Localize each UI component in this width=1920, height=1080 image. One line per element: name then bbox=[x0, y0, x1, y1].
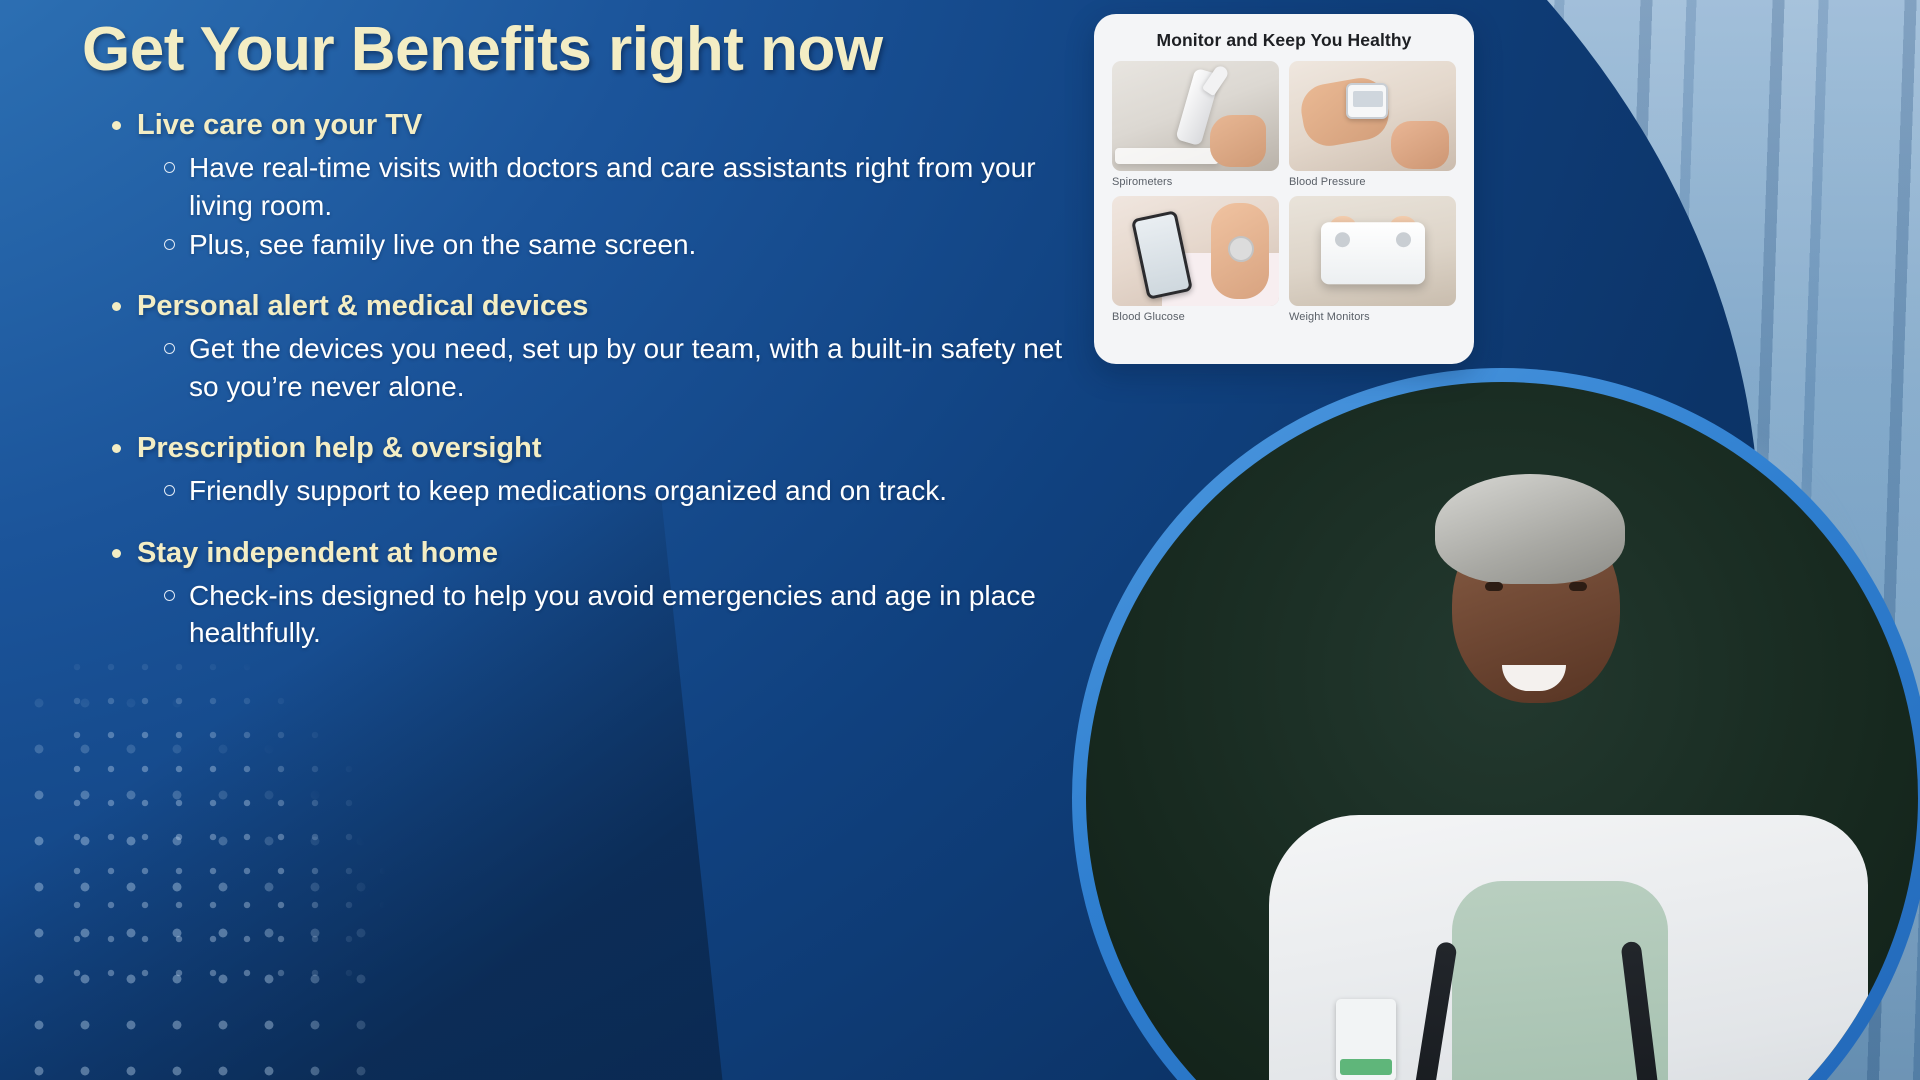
device-tile[interactable]: Blood Pressure bbox=[1289, 61, 1456, 188]
bullet-dot-icon bbox=[112, 302, 121, 311]
benefit-subitem: Plus, see family live on the same screen… bbox=[164, 226, 1092, 263]
page-title: Get Your Benefits right now bbox=[82, 14, 883, 85]
device-tile[interactable]: Spirometers bbox=[1112, 61, 1279, 188]
benefit-subitem-text: Get the devices you need, set up by our … bbox=[189, 330, 1089, 404]
doctor-id-badge bbox=[1336, 999, 1396, 1080]
bullet-dot-icon bbox=[112, 444, 121, 453]
benefit-heading: Personal alert & medical devices bbox=[112, 289, 1092, 324]
benefit-group: Prescription help & oversight Friendly s… bbox=[112, 431, 1092, 510]
benefit-heading: Stay independent at home bbox=[112, 536, 1092, 571]
weight-scale-icon bbox=[1289, 196, 1456, 306]
device-tile-grid: Spirometers Blood Pressure Blood Glucose bbox=[1112, 61, 1456, 323]
blood-glucose-icon bbox=[1112, 196, 1279, 306]
blood-pressure-icon bbox=[1289, 61, 1456, 171]
device-tile-label: Blood Glucose bbox=[1112, 311, 1279, 323]
device-tile[interactable]: Blood Glucose bbox=[1112, 196, 1279, 323]
device-tile[interactable]: Weight Monitors bbox=[1289, 196, 1456, 323]
device-card: Monitor and Keep You Healthy Spirometers… bbox=[1094, 14, 1474, 364]
doctor-hair bbox=[1435, 474, 1625, 584]
benefit-heading: Prescription help & oversight bbox=[112, 431, 1092, 466]
benefit-heading-text: Live care on your TV bbox=[137, 108, 422, 143]
benefit-heading-text: Stay independent at home bbox=[137, 536, 498, 571]
benefit-heading: Live care on your TV bbox=[112, 108, 1092, 143]
bullet-dot-icon bbox=[112, 121, 121, 130]
spirometer-icon bbox=[1112, 61, 1279, 171]
device-card-title: Monitor and Keep You Healthy bbox=[1112, 30, 1456, 51]
device-tile-label: Blood Pressure bbox=[1289, 176, 1456, 188]
benefits-list: Live care on your TV Have real-time visi… bbox=[112, 108, 1092, 651]
benefit-subitem: Friendly support to keep medications org… bbox=[164, 472, 1092, 509]
device-tile-label: Spirometers bbox=[1112, 176, 1279, 188]
doctor-eye-left bbox=[1485, 582, 1503, 591]
benefit-group: Stay independent at home Check-ins desig… bbox=[112, 536, 1092, 652]
benefit-sublist: Get the devices you need, set up by our … bbox=[164, 330, 1092, 404]
slide-canvas: Get Your Benefits right now Live care on… bbox=[0, 0, 1920, 1080]
benefit-subitem-text: Plus, see family live on the same screen… bbox=[189, 226, 696, 263]
benefit-subitem: Get the devices you need, set up by our … bbox=[164, 330, 1092, 404]
benefit-sublist: Friendly support to keep medications org… bbox=[164, 472, 1092, 509]
benefit-heading-text: Personal alert & medical devices bbox=[137, 289, 588, 324]
benefit-subitem-text: Friendly support to keep medications org… bbox=[189, 472, 947, 509]
benefit-group: Personal alert & medical devices Get the… bbox=[112, 289, 1092, 405]
hollow-bullet-icon bbox=[164, 162, 175, 173]
benefit-sublist: Check-ins designed to help you avoid eme… bbox=[164, 577, 1092, 651]
benefit-group: Live care on your TV Have real-time visi… bbox=[112, 108, 1092, 263]
device-tile-label: Weight Monitors bbox=[1289, 311, 1456, 323]
benefit-subitem: Check-ins designed to help you avoid eme… bbox=[164, 577, 1092, 651]
benefit-subitem-text: Check-ins designed to help you avoid eme… bbox=[189, 577, 1089, 651]
doctor-portrait-photo bbox=[1086, 382, 1918, 1080]
doctor-eye-right bbox=[1569, 582, 1587, 591]
hollow-bullet-icon bbox=[164, 590, 175, 601]
benefit-subitem: Have real-time visits with doctors and c… bbox=[164, 149, 1092, 223]
hollow-bullet-icon bbox=[164, 485, 175, 496]
hollow-bullet-icon bbox=[164, 343, 175, 354]
bullet-dot-icon bbox=[112, 549, 121, 558]
benefit-heading-text: Prescription help & oversight bbox=[137, 431, 541, 466]
benefit-sublist: Have real-time visits with doctors and c… bbox=[164, 149, 1092, 263]
hollow-bullet-icon bbox=[164, 239, 175, 250]
benefit-subitem-text: Have real-time visits with doctors and c… bbox=[189, 149, 1089, 223]
